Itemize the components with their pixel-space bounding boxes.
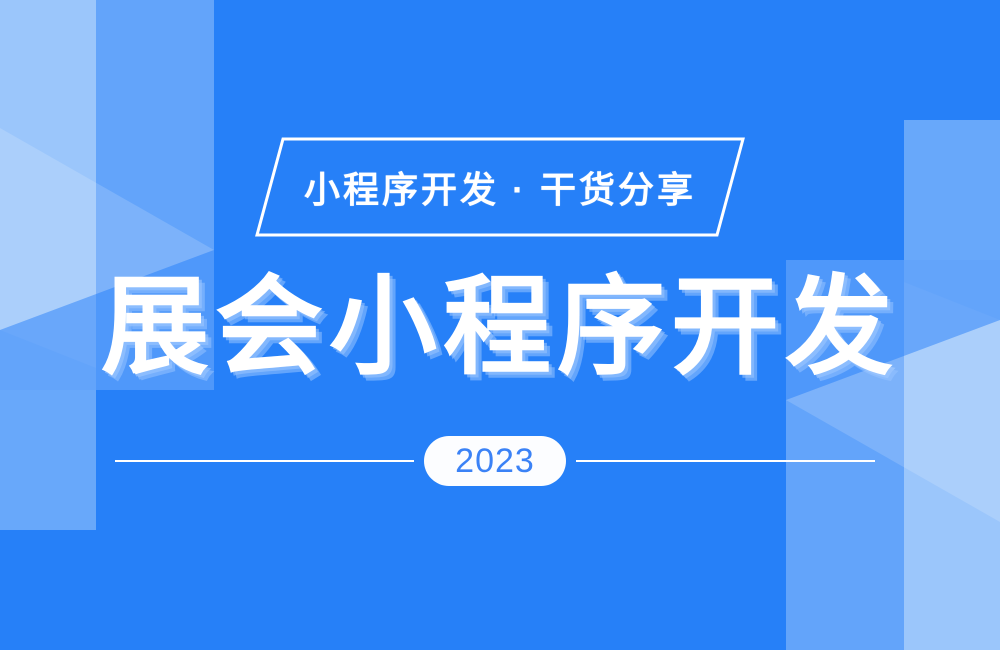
promo-banner: 小程序开发 · 干货分享 展会小程序开发 2023 [0,0,1000,650]
year-badge: 2023 [424,436,566,486]
eyebrow-label: 小程序开发 · 干货分享 [255,137,745,237]
divider-line-right [576,460,875,462]
page-title: 展会小程序开发 [0,268,1000,386]
divider-row: 2023 [115,435,875,487]
eyebrow-banner: 小程序开发 · 干货分享 [255,137,745,237]
divider-line-left [115,460,414,462]
